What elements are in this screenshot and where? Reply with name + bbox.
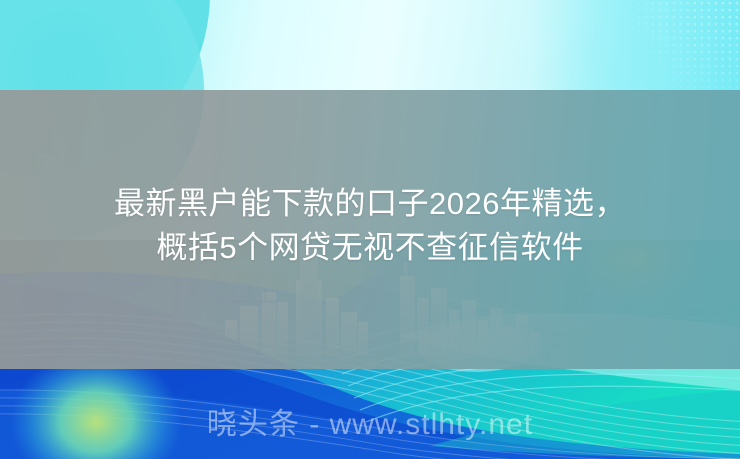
concentric-arcs-icon: [318, 0, 468, 66]
watermark: 晓头条 - www.stlhty.net: [0, 408, 740, 442]
poster-canvas: 最新黑户能下款的口子2026年精选， 概括5个网贷无视不查征信软件 晓头条 - …: [0, 0, 740, 459]
page-title: 最新黑户能下款的口子2026年精选， 概括5个网贷无视不查征信软件: [0, 182, 740, 270]
